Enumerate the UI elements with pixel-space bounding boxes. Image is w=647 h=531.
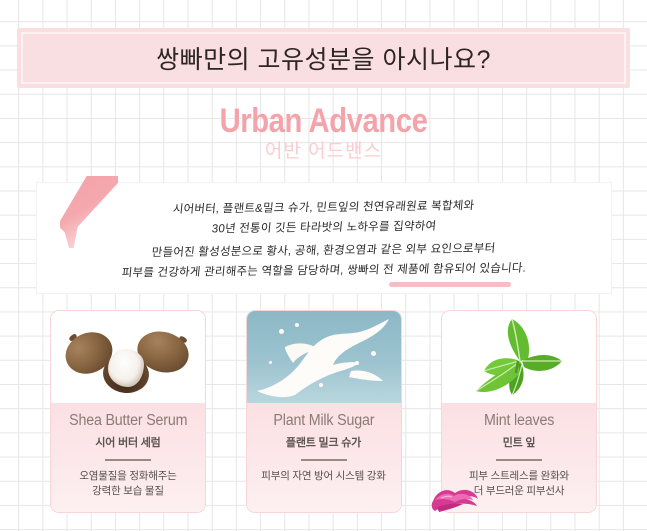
description-line-4: 피부를 건강하게 관리해주는 역할을 담당하며, 쌍빠의 전 제품에 함유되어 … [121, 259, 527, 280]
lips-kiss-mark-icon [429, 485, 481, 519]
card-title-en: Mint leaves [484, 412, 554, 430]
brand-block: Urban Advance 어반 어드밴스 [0, 104, 647, 161]
description-highlight-underline [389, 282, 511, 287]
page-title: 쌍빠만의 고유성분을 아시나요? [156, 40, 491, 76]
ingredient-card-shea-butter[interactable]: Shea Butter Serum 시어 버터 세럼 오염물질을 정화해주는 강… [50, 310, 206, 513]
ingredient-card-mint-leaves[interactable]: Mint leaves 민트 잎 피부 스트레스를 완화와 더 부드러운 피부선… [441, 310, 597, 513]
header-banner: 쌍빠만의 고유성분을 아시나요? [17, 28, 630, 88]
milk-splash-icon [255, 317, 395, 399]
brand-name-en: Urban Advance [45, 104, 601, 138]
mint-leaf-icon [442, 311, 596, 403]
description-line-1: 시어버터, 플랜트&밀크 슈가, 민트잎의 천연유래원료 복합체와 [172, 197, 475, 217]
ingredient-card-list: Shea Butter Serum 시어 버터 세럼 오염물질을 정화해주는 강… [50, 310, 597, 513]
card-description-line-1: 오염물질을 정화해주는 [79, 469, 176, 484]
card-description-line-2: 강력한 보습 물질 [79, 484, 176, 499]
card-description-line-2: 더 부드러운 피부선사 [469, 484, 569, 499]
card-divider [301, 459, 347, 461]
shea-nuts-image [51, 311, 205, 403]
description-line-3: 만들어진 활성성분으로 황사, 공해, 환경오염과 같은 외부 요인으로부터 [151, 239, 496, 259]
card-label: Shea Butter Serum 시어 버터 세럼 오염물질을 정화해주는 강… [51, 403, 205, 512]
card-divider [496, 459, 542, 461]
card-title-en: Plant Milk Sugar [273, 412, 374, 430]
brand-name-ko: 어반 어드밴스 [0, 142, 647, 161]
milk-splash-image [247, 311, 401, 403]
card-description-line-1: 피부 스트레스를 완화와 [469, 469, 569, 484]
card-title-ko: 플랜트 밀크 슈가 [286, 434, 361, 450]
description-line-2: 30년 전통이 깃든 타라밧의 노하우를 집약하여 [211, 217, 437, 236]
card-description: 피부의 자연 방어 시스템 강화 [257, 469, 389, 484]
mint-leaves-image [442, 311, 596, 403]
card-title-en: Shea Butter Serum [69, 412, 187, 430]
card-description: 피부 스트레스를 완화와 더 부드러운 피부선사 [465, 469, 573, 499]
card-title-ko: 민트 잎 [503, 434, 536, 450]
header-banner-inner: 쌍빠만의 고유성분을 아시나요? [21, 32, 626, 84]
card-description: 오염물질을 정화해주는 강력한 보습 물질 [75, 469, 180, 499]
description-text: 시어버터, 플랜트&밀크 슈가, 민트잎의 천연유래원료 복합체와 30년 전통… [36, 182, 612, 294]
card-label: Plant Milk Sugar 플랜트 밀크 슈가 피부의 자연 방어 시스템… [247, 403, 401, 512]
card-title-ko: 시어 버터 세럼 [95, 434, 160, 450]
card-description-line-1: 피부의 자연 방어 시스템 강화 [261, 469, 385, 484]
ingredient-card-plant-milk-sugar[interactable]: Plant Milk Sugar 플랜트 밀크 슈가 피부의 자연 방어 시스템… [246, 310, 402, 513]
card-divider [105, 459, 151, 461]
